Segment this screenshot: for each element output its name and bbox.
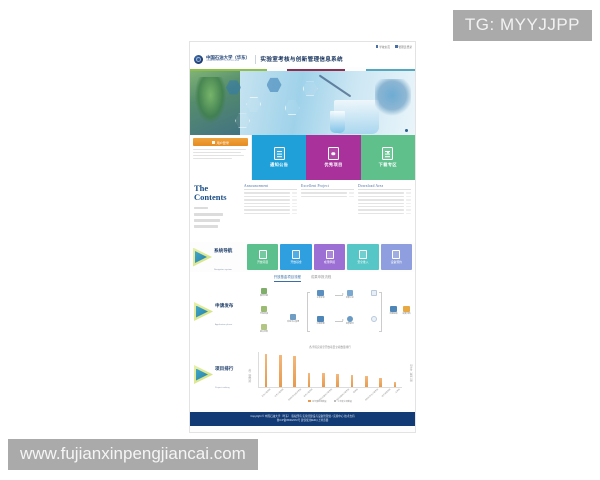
flow-node-label: 实验中心受理 <box>287 321 299 323</box>
sidebar-item-home[interactable] <box>194 207 208 210</box>
project-ranking-badge: 项目排行 Project ranking <box>194 357 246 393</box>
tile-open-project[interactable]: 开放项目 <box>247 244 278 270</box>
card-label: 下载专区 <box>379 162 397 168</box>
contents-side-nav <box>194 207 244 228</box>
logo-text-block[interactable]: 中国石油大学（华东） CHINA UNIVERSITY OF PETROLEUM <box>206 56 250 63</box>
site-watermark: www.fujianxinpengjiancai.com <box>8 439 258 470</box>
chart-plot-area <box>258 352 402 388</box>
badge-label-cn: 系统导航 <box>214 248 232 253</box>
item-title <box>358 196 404 198</box>
item-date <box>406 192 411 194</box>
card-download-area[interactable]: 下载专区 <box>361 135 415 180</box>
utility-link-admin-login[interactable]: 管理员登录 <box>395 45 412 49</box>
contents-columns: Announcement Excellent Project Download … <box>244 184 411 240</box>
list-item[interactable] <box>301 196 354 198</box>
item-title <box>358 199 404 201</box>
flow-node-label: 结果公示 <box>346 297 354 299</box>
notice-text-line <box>193 158 232 160</box>
flow-node[interactable] <box>366 290 383 297</box>
university-emblem-icon <box>194 55 203 64</box>
flow-node[interactable]: 教师申报 <box>255 288 272 298</box>
teacher-apply-icon <box>261 288 268 295</box>
chart-bar <box>293 356 296 387</box>
login-notice-panel: 用户登录 <box>190 135 252 180</box>
chart-bar-slot <box>388 352 402 387</box>
chart-bar-slot <box>288 352 302 387</box>
item-date <box>292 196 297 198</box>
list-item[interactable] <box>301 192 354 194</box>
project-ranking-section: 项目排行 Project ranking 各学院实验室开放项目立项数量排行 项目… <box>190 342 415 410</box>
arrow-inner-icon <box>195 251 207 263</box>
badge-text-block: 项目排行 Project ranking <box>215 357 233 393</box>
flow-node[interactable]: 中期检查 <box>312 316 329 326</box>
bullet-icon <box>395 45 398 48</box>
item-date <box>406 203 411 205</box>
result-publicity-icon <box>347 290 354 297</box>
tile-achievement-report[interactable]: 成果申报 <box>314 244 345 270</box>
application-phase-badge: 申请发布 Application phase <box>194 294 246 330</box>
chart-bar <box>322 373 325 386</box>
item-date <box>292 206 297 208</box>
chart-bar-slot <box>273 352 287 387</box>
flow-node[interactable] <box>366 316 383 323</box>
project-review-icon <box>317 290 324 297</box>
header-divider <box>255 55 256 64</box>
flow-node-label: 提交材料 <box>260 331 268 333</box>
college-review-icon <box>261 306 268 313</box>
flow-node[interactable]: 实验中心受理 <box>285 314 302 324</box>
item-title <box>358 213 404 215</box>
site-footer: Copyright © 中国石油大学（华东） 版权所有 实验室建设与设备管理处 … <box>190 412 415 427</box>
hexagon-icon <box>226 80 241 95</box>
legend-entry-current: 本年度立项数量 <box>308 400 326 403</box>
chart-y-axis-label: 项目数量（项） <box>248 367 252 382</box>
card-label: 优秀项目 <box>324 162 342 168</box>
safety-icon <box>359 250 367 259</box>
tile-label: 设备预约 <box>391 260 402 264</box>
column-heading: Excellent Project <box>301 184 354 190</box>
tile-safety-access[interactable]: 安全准入 <box>347 244 378 270</box>
flow-node[interactable]: 成果归档 <box>398 306 415 316</box>
item-date <box>292 203 297 205</box>
arrow-right-icon <box>194 302 213 321</box>
legend-label: 本年度立项数量 <box>312 400 327 403</box>
chart-bar-slot <box>345 352 359 387</box>
list-item[interactable] <box>244 213 297 215</box>
flow-node[interactable]: 学院审核 <box>255 306 272 316</box>
hexagon-icon <box>303 81 318 96</box>
item-title <box>244 209 290 211</box>
item-title <box>244 192 290 194</box>
cycle-icon <box>371 316 378 323</box>
item-title <box>244 206 290 208</box>
sidebar-item-excellent-project[interactable] <box>194 219 220 222</box>
sidebar-item-announcement[interactable] <box>194 213 223 216</box>
ranking-bar-chart: 各学院实验室开放项目立项数量排行 项目数量（项） 统计周期：本年度 石油工程学院… <box>249 345 411 405</box>
flow-node-label: 学院审核 <box>260 313 268 315</box>
chart-title: 各学院实验室开放项目立项数量排行 <box>309 345 351 349</box>
item-date <box>292 199 297 201</box>
brace-left <box>307 292 310 332</box>
flask-graphic <box>330 111 346 133</box>
item-title <box>358 206 404 208</box>
utility-bar: 学校主页 管理员登录 <box>190 42 415 51</box>
chart-bar-slot <box>302 352 316 387</box>
list-item[interactable] <box>244 209 297 211</box>
tile-open-fund[interactable]: 开放基金 <box>280 244 311 270</box>
flow-node-label: 立项评审 <box>317 297 325 299</box>
chart-bar <box>265 354 268 386</box>
flow-node-label: 经费拨付 <box>346 323 354 325</box>
process-flow-section: 开放基金项目流程 成果申报流程 申请发布 Application phase 教… <box>190 272 415 342</box>
list-item[interactable] <box>358 199 411 201</box>
list-item[interactable] <box>358 213 411 215</box>
acceptance-icon <box>390 306 397 313</box>
legend-swatch-icon <box>308 400 311 403</box>
checkmark-icon <box>371 290 378 297</box>
notice-text-line <box>193 155 244 157</box>
chart-bar <box>379 378 382 386</box>
molecule-graphic <box>375 79 411 119</box>
legend-entry-previous: 上年度立项数量 <box>334 400 352 403</box>
item-date <box>406 206 411 208</box>
item-title <box>358 209 404 211</box>
item-title <box>301 192 347 194</box>
item-date <box>349 192 354 194</box>
card-excellent-project[interactable]: 优秀项目 <box>306 135 360 180</box>
intro-and-cards-row: 用户登录 通知公告 优秀项目 下载专区 <box>190 135 415 180</box>
fund-allocate-icon <box>347 316 354 323</box>
fund-icon <box>292 250 300 259</box>
chart-bar-slot <box>259 352 273 387</box>
archive-icon <box>403 306 410 313</box>
tile-label: 开放基金 <box>291 260 302 264</box>
item-title <box>358 192 404 194</box>
user-login-button[interactable]: 用户登录 <box>193 138 248 146</box>
brace-right <box>379 292 382 332</box>
item-title <box>244 199 290 201</box>
chart-x-axis-labels: 石油工程学院化学工程学院地球科学与技术学院机电工程学院计算机与通信工程学院储运与… <box>258 388 402 400</box>
chart-x-tick: 石油工程学院 <box>258 388 270 400</box>
sidebar-item-download-area[interactable] <box>194 225 218 228</box>
badge-label-en: Application phase <box>215 324 232 326</box>
item-date <box>406 199 411 201</box>
arrow-right-icon <box>193 248 212 267</box>
list-item[interactable] <box>244 206 297 208</box>
badge-label-cn: 项目排行 <box>215 366 233 371</box>
item-date <box>406 209 411 211</box>
badge-label-en: Project ranking <box>215 387 230 389</box>
badge-text-block: 申请发布 Application phase <box>215 294 233 330</box>
site-header: 中国石油大学（华东） CHINA UNIVERSITY OF PETROLEUM… <box>190 51 415 67</box>
column-heading: Download Area <box>358 184 411 190</box>
award-icon <box>328 147 339 160</box>
list-item[interactable] <box>358 206 411 208</box>
midterm-check-icon <box>317 316 324 323</box>
item-date <box>349 196 354 198</box>
notice-text-line <box>193 149 246 151</box>
chart-bar <box>394 382 397 386</box>
tile-label: 成果申报 <box>324 260 335 264</box>
list-item[interactable] <box>358 209 411 211</box>
card-label: 通知公告 <box>270 162 288 168</box>
notice-text-line <box>193 152 241 154</box>
contents-heading-block: The Contents <box>194 184 244 240</box>
chart-bar-slot <box>316 352 330 387</box>
flow-node-label: 中期检查 <box>317 323 325 325</box>
hexagon-icon <box>285 100 300 115</box>
contents-title-line2: Contents <box>194 193 244 202</box>
tile-equipment-booking[interactable]: 设备预约 <box>381 244 412 270</box>
item-date <box>292 209 297 211</box>
utility-link-label: 学校主页 <box>379 45 390 49</box>
navigation-tiles: 开放项目 开放基金 成果申报 安全准入 设备预约 <box>247 244 412 270</box>
item-date <box>406 213 411 215</box>
flow-node[interactable]: 经费拨付 <box>341 316 358 326</box>
tg-watermark-badge: TG: MYYJJPP <box>453 10 592 41</box>
hexagon-icon <box>267 77 282 92</box>
utility-link-home[interactable]: 学校主页 <box>376 45 390 49</box>
chart-bar <box>336 374 339 387</box>
chart-right-label: 统计周期：本年度 <box>409 365 413 383</box>
footer-icp: 鲁ICP备05002372号 建议使用IE9以上浏览器 <box>194 419 411 423</box>
chart-bar <box>351 375 354 387</box>
column-heading: Announcement <box>244 184 297 190</box>
item-date <box>292 213 297 215</box>
list-item[interactable] <box>244 199 297 201</box>
contents-column-excellent-project: Excellent Project <box>301 184 354 240</box>
chart-bar-slot <box>359 352 373 387</box>
submit-materials-icon <box>261 324 268 331</box>
hero-banner <box>190 71 415 135</box>
bullet-icon <box>376 45 379 48</box>
flow-diagram: 教师申报 学院审核 提交材料 实验中心受理 立项 <box>249 286 411 338</box>
system-navigation-section: 系统导航 Navigation system 开放项目 开放基金 成果申报 安全… <box>190 242 415 272</box>
list-item[interactable] <box>358 196 411 198</box>
arrow-inner-icon <box>196 306 208 318</box>
item-title <box>358 203 404 205</box>
report-icon <box>326 250 334 259</box>
flow-node[interactable]: 立项评审 <box>312 290 329 300</box>
project-icon <box>259 250 267 259</box>
item-title <box>244 196 290 198</box>
document-icon <box>274 147 285 160</box>
contents-column-announcement: Announcement <box>244 184 297 240</box>
hexagon-icon <box>235 113 250 128</box>
list-item[interactable] <box>358 192 411 194</box>
flow-body: 申请发布 Application phase 教师申报 学院审核 提交材料 <box>194 285 411 339</box>
legend-label: 上年度立项数量 <box>337 400 352 403</box>
contents-section: The Contents Announcement Excell <box>190 180 415 242</box>
item-date <box>292 192 297 194</box>
center-accept-icon <box>290 314 297 321</box>
chart-bar-slot <box>330 352 344 387</box>
flow-node[interactable]: 结果公示 <box>341 290 358 300</box>
chart-bar <box>279 355 282 387</box>
tab-achievement-process[interactable]: 成果申报流程 <box>311 274 331 282</box>
item-date <box>406 196 411 198</box>
system-title: 实验室考核与创新管理信息系统 <box>260 55 343 63</box>
system-navigation-badge: 系统导航 Navigation system <box>193 239 245 275</box>
list-item[interactable] <box>244 192 297 194</box>
molecule-hexagon-group <box>222 71 335 135</box>
hexagon-icon <box>246 97 261 112</box>
tab-open-fund-process[interactable]: 开放基金项目流程 <box>274 274 301 282</box>
flow-tabs: 开放基金项目流程 成果申报流程 <box>194 274 411 282</box>
carousel-dot-icon[interactable] <box>405 129 408 132</box>
card-announcement[interactable]: 通知公告 <box>252 135 306 180</box>
chart-bar-slot <box>373 352 387 387</box>
utility-link-label: 管理员登录 <box>399 45 412 49</box>
legend-swatch-icon <box>334 400 337 403</box>
chart-legend: 本年度立项数量 上年度立项数量 <box>249 400 411 403</box>
download-icon <box>382 147 393 160</box>
flow-node-label: 结题验收 <box>390 313 398 315</box>
list-item[interactable] <box>244 196 297 198</box>
list-item[interactable] <box>358 203 411 205</box>
chart-bar <box>308 373 311 387</box>
booking-icon <box>392 250 400 259</box>
flow-node-label: 成果归档 <box>403 313 411 315</box>
arrow-right-icon <box>194 365 213 384</box>
item-title <box>301 196 347 198</box>
item-title <box>244 213 290 215</box>
flow-node[interactable]: 提交材料 <box>255 324 272 334</box>
flow-node-label: 教师申报 <box>260 295 268 297</box>
user-icon <box>212 141 215 144</box>
arrow-inner-icon <box>196 369 208 381</box>
tile-label: 开放项目 <box>257 260 268 264</box>
ranking-body: 项目排行 Project ranking 各学院实验室开放项目立项数量排行 项目… <box>194 344 411 406</box>
quick-link-cards: 通知公告 优秀项目 下载专区 <box>252 135 415 180</box>
chart-bar <box>365 376 368 387</box>
list-item[interactable] <box>244 203 297 205</box>
logo-english-name: CHINA UNIVERSITY OF PETROLEUM <box>206 60 250 62</box>
badge-label-en: Navigation system <box>214 269 232 271</box>
user-login-label: 用户登录 <box>217 140 229 145</box>
tile-label: 安全准入 <box>357 260 368 264</box>
badge-label-cn: 申请发布 <box>215 303 233 308</box>
badge-text-block: 系统导航 Navigation system <box>214 239 232 275</box>
website-screenshot: 学校主页 管理员登录 中国石油大学（华东） CHINA UNIVERSITY O… <box>189 41 416 433</box>
contents-column-download-area: Download Area <box>358 184 411 240</box>
item-title <box>244 203 290 205</box>
